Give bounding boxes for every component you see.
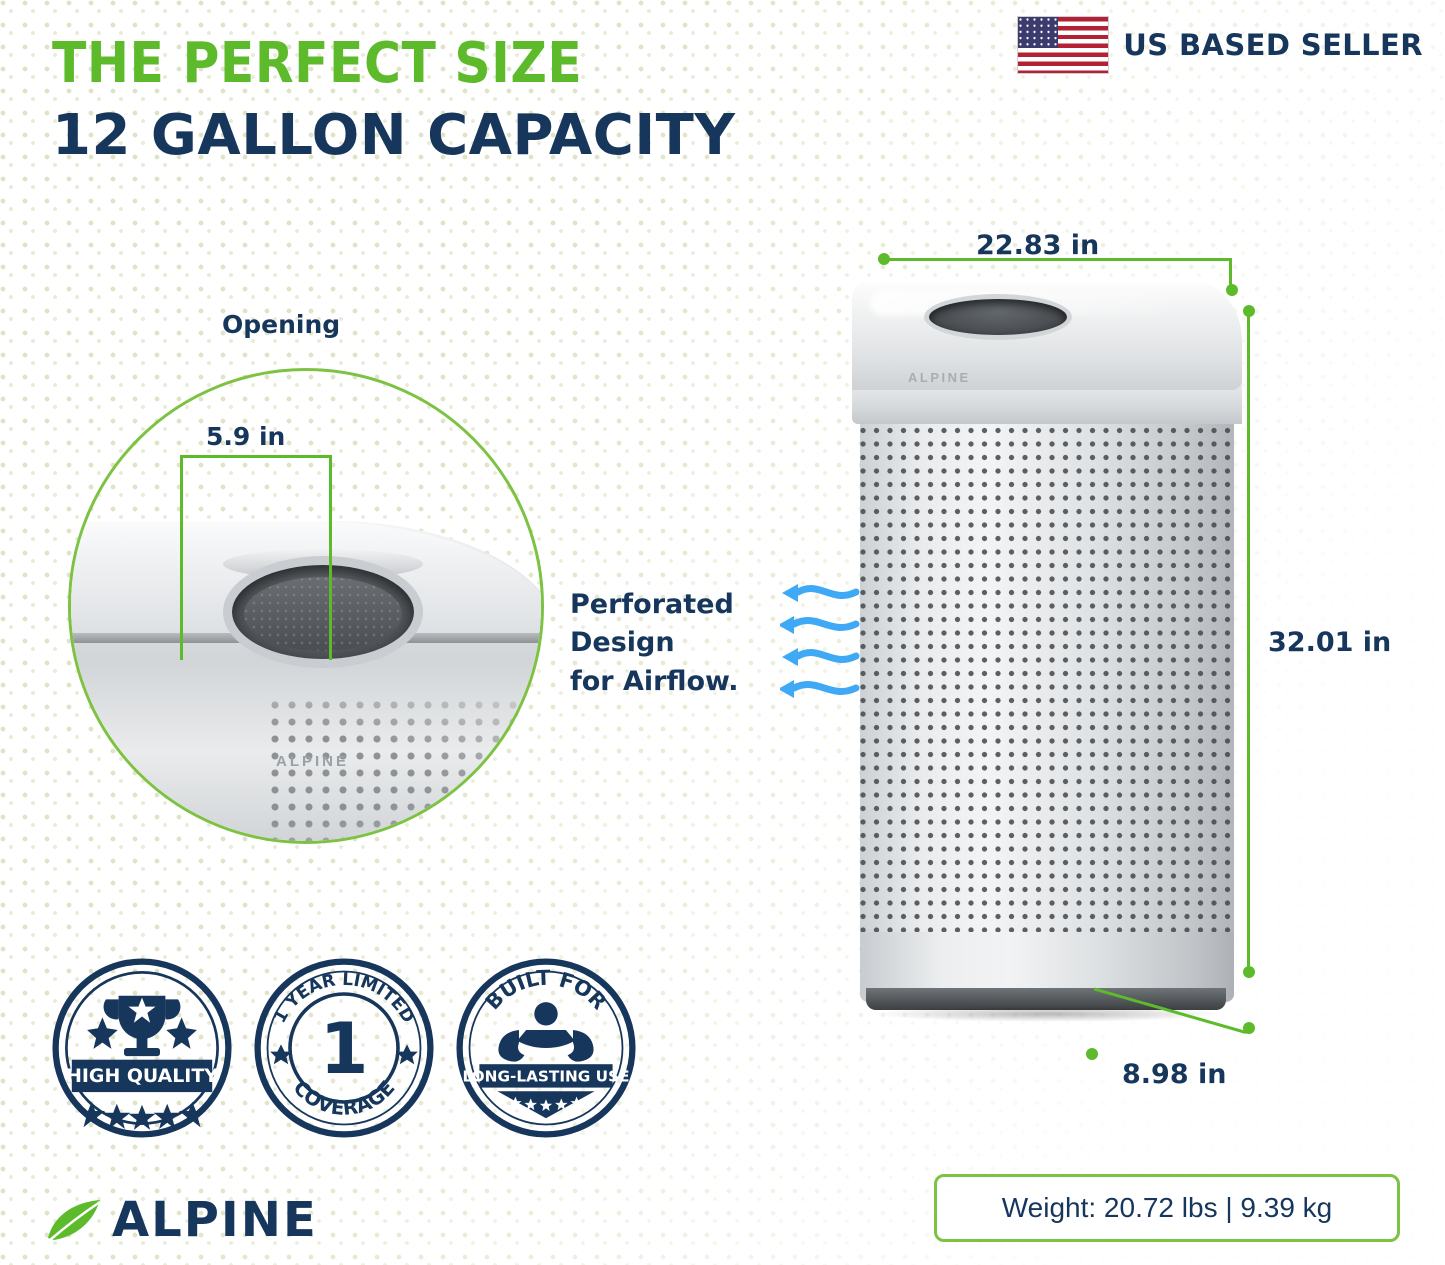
opening-dimension-label: 5.9 in	[206, 422, 285, 451]
depth-dimension-label: 8.98 in	[1122, 1059, 1227, 1090]
us-based-seller-label: US BASED SELLER	[1123, 28, 1423, 62]
headline-block: THE PERFECT SIZE 12 GALLON CAPACITY	[52, 36, 735, 164]
closeup-brand-mark: ALPINE	[276, 753, 349, 770]
opening-dimension-measure	[180, 455, 332, 665]
trust-badges: HIGH QUALITY 1 YEAR LIMITED COVERAG	[52, 958, 636, 1138]
height-dimension-label: 32.01 in	[1268, 627, 1391, 658]
us-flag-icon	[1017, 16, 1109, 74]
product-infographic: THE PERFECT SIZE 12 GALLON CAPACITY US B…	[0, 0, 1445, 1265]
trophy-icon	[87, 996, 197, 1056]
perforated-line-1: Perforated	[570, 586, 739, 624]
product-opening	[924, 294, 1072, 340]
width-dimension-label: 22.83 in	[976, 230, 1099, 261]
leaf-icon	[44, 1194, 104, 1246]
product-brand-mark: ALPINE	[908, 370, 971, 385]
warranty-badge: 1 YEAR LIMITED COVERAGE 1	[254, 958, 434, 1138]
opening-label: Opening	[222, 310, 340, 339]
weight-label: Weight: 20.72 lbs | 9.39 kg	[1002, 1192, 1333, 1224]
us-based-seller-badge: US BASED SELLER	[1017, 16, 1423, 74]
stars-row	[78, 1102, 206, 1130]
warranty-number: 1	[320, 1008, 369, 1090]
brand-wordmark: ALPINE	[112, 1192, 318, 1248]
width-dim-dot-right	[1226, 284, 1238, 296]
weight-box: Weight: 20.72 lbs | 9.39 kg	[934, 1174, 1400, 1242]
depth-dim-dot-left	[1086, 1048, 1098, 1060]
width-dim-line-right-drop	[1229, 258, 1232, 288]
high-quality-badge-label: HIGH QUALITY	[66, 1065, 218, 1087]
perforated-design-callout: Perforated Design for Airflow.	[570, 586, 739, 701]
perforated-line-3: for Airflow.	[570, 663, 739, 701]
height-dim-dot-bottom	[1243, 966, 1255, 978]
built-for-badge: BUILT FOR LONG-LASTING USE	[456, 958, 636, 1138]
high-quality-badge: HIGH QUALITY	[52, 958, 232, 1138]
strong-arms-icon	[498, 1002, 593, 1062]
perforated-line-2: Design	[570, 624, 739, 662]
brand-logo: ALPINE	[44, 1192, 318, 1248]
headline-line-2: 12 GALLON CAPACITY	[52, 108, 735, 164]
height-dim-line	[1247, 311, 1250, 971]
headline-line-1: THE PERFECT SIZE	[52, 36, 735, 92]
built-for-badge-bottom-text: LONG-LASTING USE	[462, 1067, 629, 1085]
product-trash-can: ALPINE	[852, 282, 1242, 1022]
